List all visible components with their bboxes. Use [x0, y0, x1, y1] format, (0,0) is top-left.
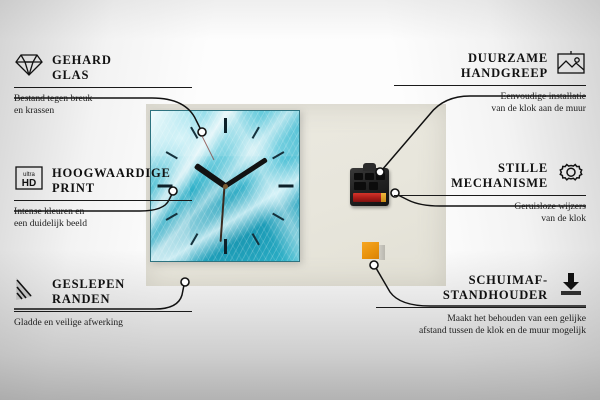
mechanism-battery — [353, 193, 386, 202]
feature-heading: SCHUIMAF- STANDHOUDER — [376, 272, 586, 303]
mechanism-detail — [354, 173, 363, 180]
ultra-hd-icon: ultra HD — [14, 165, 44, 196]
feature-title-line2: PRINT — [52, 181, 95, 195]
feature-title-line1: GEHARD — [52, 53, 112, 67]
clock-tick — [279, 185, 294, 188]
feature-title: SCHUIMAF- STANDHOUDER — [443, 273, 548, 303]
feature-title-line2: MECHANISME — [451, 176, 548, 190]
feature-title-line1: DUURZAME — [468, 51, 548, 65]
feature-title: STILLE MECHANISME — [451, 161, 548, 191]
feature-title: GESLEPEN RANDEN — [52, 277, 125, 307]
feature-divider — [394, 195, 586, 196]
feature-desc-line1: Maakt het behouden van een gelijke — [447, 313, 586, 324]
feature-title-line1: HOOGWAARDIGE — [52, 166, 171, 180]
gear-icon — [556, 160, 586, 191]
feature-desc-line1: Intense kleuren en — [14, 206, 84, 217]
feature-heading: GESLEPEN RANDEN — [14, 276, 192, 307]
battery-positive-terminal — [381, 193, 386, 202]
feature-geslepen-randen: GESLEPEN RANDEN Gladde en veilige afwerk… — [14, 276, 192, 329]
infographic-canvas: GEHARD GLAS Bestand tegen breuk en krass… — [0, 0, 600, 400]
feature-desc-line1: Bestand tegen breuk — [14, 93, 92, 104]
feature-description: Gladde en veilige afwerking — [14, 317, 192, 329]
feature-description: Maakt het behouden van een gelijke afsta… — [376, 313, 586, 337]
feature-divider — [14, 311, 192, 312]
quartz-mechanism — [350, 168, 389, 206]
feature-desc-line2: afstand tussen de klok en de muur mogeli… — [419, 325, 586, 336]
mechanism-detail — [365, 173, 374, 180]
feature-heading: GEHARD GLAS — [14, 52, 192, 83]
foam-spacer — [362, 242, 379, 259]
feature-stille-mechanisme: STILLE MECHANISME Geruisloze wijzers van… — [394, 160, 586, 225]
clock-center-cap — [223, 184, 228, 189]
feature-gehard-glas: GEHARD GLAS Bestand tegen breuk en krass… — [14, 52, 192, 117]
feature-desc-line2: een duidelijk beeld — [14, 218, 87, 229]
feature-title: GEHARD GLAS — [52, 53, 112, 83]
feature-title: HOOGWAARDIGE PRINT — [52, 166, 171, 196]
feature-heading: STILLE MECHANISME — [394, 160, 586, 191]
feature-desc-line1: Geruisloze wijzers — [514, 201, 586, 212]
feature-title-line1: GESLEPEN — [52, 277, 125, 291]
mechanism-detail — [369, 182, 378, 190]
svg-text:HD: HD — [22, 178, 36, 189]
mechanism-detail — [354, 182, 366, 190]
bevelled-edges-icon — [14, 276, 44, 307]
foam-spacer-shadow — [379, 245, 385, 260]
feature-description: Intense kleuren en een duidelijk beeld — [14, 206, 192, 230]
feature-title-line2: RANDEN — [52, 292, 110, 306]
feature-divider — [376, 307, 586, 308]
feature-desc-line2: en krassen — [14, 105, 54, 116]
mechanism-detail — [376, 173, 385, 180]
feature-heading: ultra HD HOOGWAARDIGE PRINT — [14, 165, 192, 196]
feature-divider — [394, 85, 586, 86]
feature-schuimafstandhouder: SCHUIMAF- STANDHOUDER Maakt het behouden… — [376, 272, 586, 337]
feature-heading: DUURZAME HANDGREEP — [394, 50, 586, 81]
feature-divider — [14, 200, 192, 201]
press-down-icon — [556, 272, 586, 303]
feature-desc-line1: Eenvoudige installatie — [500, 91, 586, 102]
feature-title: DUURZAME HANDGREEP — [461, 51, 548, 81]
mechanism-hanger-tab — [363, 163, 376, 171]
feature-description: Eenvoudige installatie van de klok aan d… — [394, 91, 586, 115]
feature-title-line1: SCHUIMAF- — [469, 273, 548, 287]
feature-divider — [14, 87, 192, 88]
feature-title-line2: STANDHOUDER — [443, 288, 548, 302]
feature-description: Geruisloze wijzers van de klok — [394, 201, 586, 225]
feature-description: Bestand tegen breuk en krassen — [14, 93, 192, 117]
picture-frame-icon — [556, 50, 586, 81]
feature-desc-line2: van de klok — [541, 213, 586, 224]
feature-title-line1: STILLE — [498, 161, 548, 175]
clock-tick — [224, 239, 227, 254]
clock-tick — [224, 118, 227, 133]
feature-desc-line1: Gladde en veilige afwerking — [14, 317, 123, 328]
feature-hoogwaardige-print: ultra HD HOOGWAARDIGE PRINT Intense kleu… — [14, 165, 192, 230]
feature-title-line2: HANDGREEP — [461, 66, 548, 80]
feature-duurzame-handgreep: DUURZAME HANDGREEP Eenvoudige installati… — [394, 50, 586, 115]
feature-desc-line2: van de klok aan de muur — [491, 103, 586, 114]
diamond-icon — [14, 52, 44, 83]
feature-title-line2: GLAS — [52, 68, 89, 82]
